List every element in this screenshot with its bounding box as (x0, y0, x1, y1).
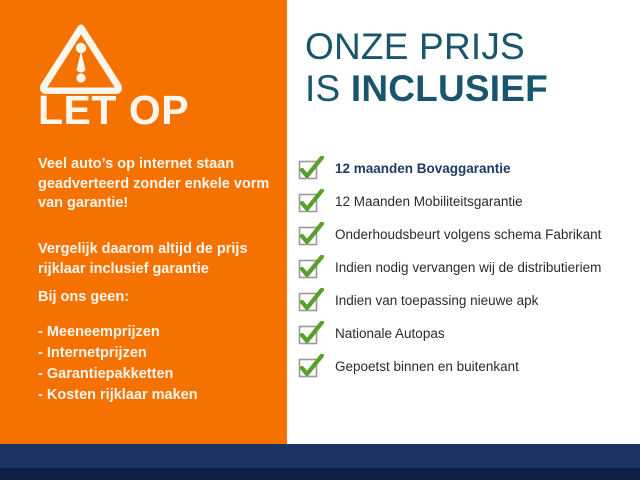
list-item: - Internetprijzen (38, 343, 278, 364)
benefits-headline: ONZE PRIJS IS INCLUSIEF (305, 26, 548, 110)
list-item: Nationale Autopas (297, 317, 640, 350)
checkbox-checked-icon (297, 288, 325, 314)
headline-line-1: ONZE PRIJS (305, 26, 548, 68)
warning-paragraph-1: Veel auto’s op internet staan geadvertee… (38, 155, 278, 214)
checkbox-checked-icon (297, 321, 325, 347)
list-item: Indien nodig vervangen wij de distributi… (297, 251, 640, 284)
list-item: 12 Maanden Mobiliteitsgarantie (297, 185, 640, 218)
checkbox-checked-icon (297, 189, 325, 215)
checkbox-checked-icon (297, 156, 325, 182)
warning-paragraph-2: Vergelijk daarom altijd de prijs rijklaa… (38, 240, 278, 279)
benefit-label: 12 maanden Bovaggarantie (335, 161, 511, 177)
promo-poster: LET OP Veel auto’s op internet staan gea… (0, 0, 640, 480)
list-item: - Meeneemprijzen (38, 322, 278, 343)
benefit-label: Gepoetst binnen en buitenkant (335, 359, 519, 375)
warning-paragraph-3: Bij ons geen: (38, 288, 278, 308)
footer-bar-lower (0, 468, 640, 480)
headline-prefix: IS (305, 68, 351, 109)
checkbox-checked-icon (297, 222, 325, 248)
checkbox-checked-icon (297, 354, 325, 380)
list-item: - Kosten rijklaar maken (38, 385, 278, 406)
benefits-list: 12 maanden Bovaggarantie 12 Maanden Mobi… (297, 152, 640, 383)
warning-panel: LET OP Veel auto’s op internet staan gea… (0, 0, 287, 444)
benefit-label: Onderhoudsbeurt volgens schema Fabrikant (335, 227, 601, 243)
list-item: Gepoetst binnen en buitenkant (297, 350, 640, 383)
benefits-panel: ONZE PRIJS IS INCLUSIEF 12 maanden Bovag… (287, 0, 640, 444)
exclusions-list: - Meeneemprijzen - Internetprijzen - Gar… (38, 322, 278, 406)
headline-emphasis: INCLUSIEF (351, 68, 548, 109)
checkbox-checked-icon (297, 255, 325, 281)
benefit-label: Indien nodig vervangen wij de distributi… (335, 260, 601, 276)
page-title: LET OP (38, 88, 189, 132)
benefit-label: 12 Maanden Mobiliteitsgarantie (335, 194, 523, 210)
list-item: Indien van toepassing nieuwe apk (297, 284, 640, 317)
footer-bar-upper (0, 444, 640, 468)
warning-triangle-icon (40, 22, 122, 94)
headline-line-2: IS INCLUSIEF (305, 68, 548, 110)
list-item: 12 maanden Bovaggarantie (297, 152, 640, 185)
list-item: - Garantiepakketten (38, 364, 278, 385)
list-item: Onderhoudsbeurt volgens schema Fabrikant (297, 218, 640, 251)
benefit-label: Indien van toepassing nieuwe apk (335, 293, 538, 309)
benefit-label: Nationale Autopas (335, 326, 445, 342)
